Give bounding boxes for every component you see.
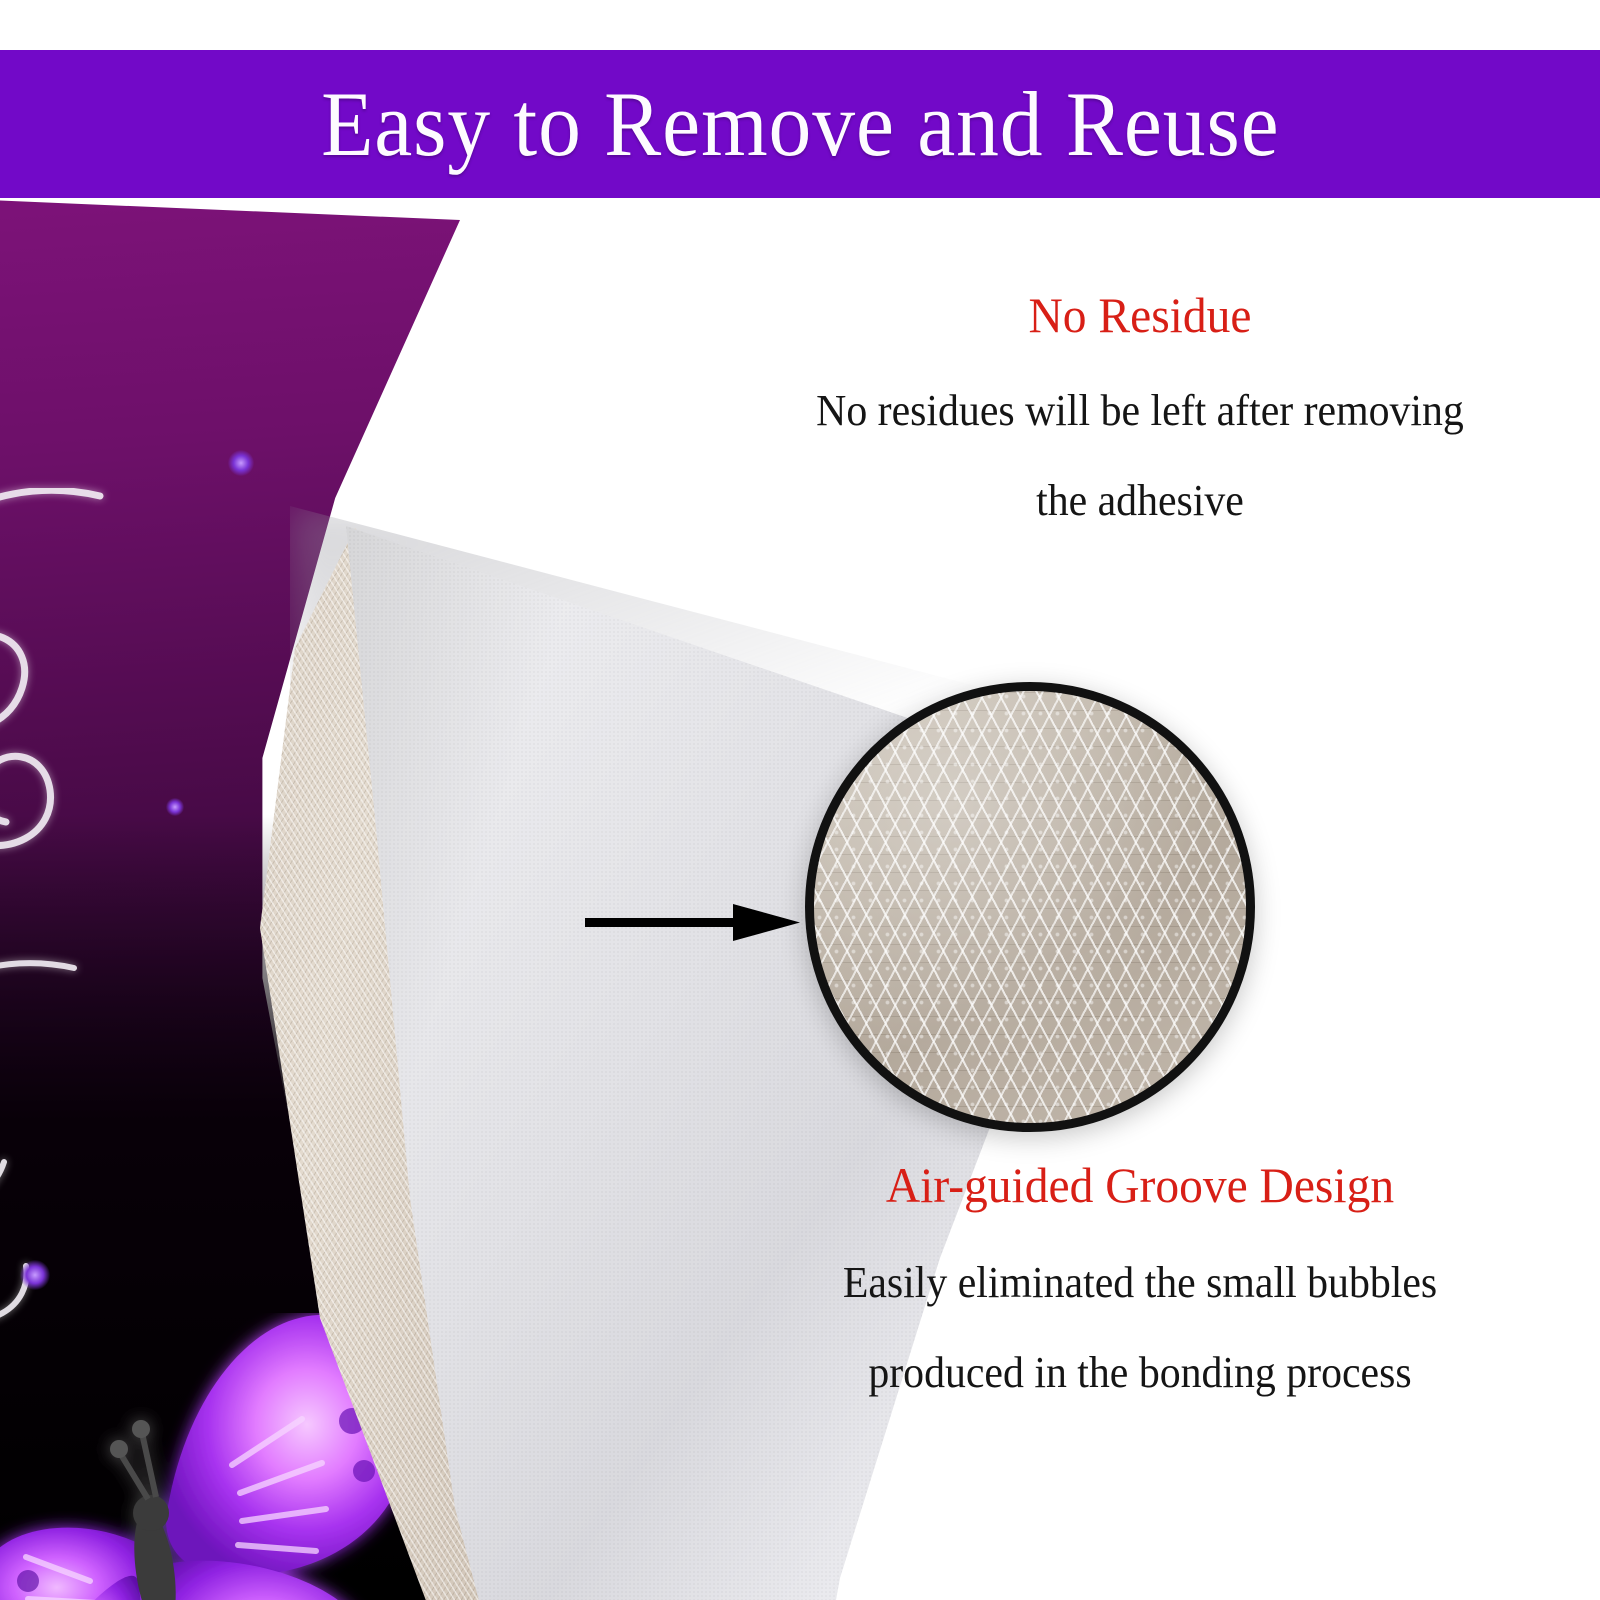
- decorative-swirl-icon: [0, 958, 160, 1358]
- feature-body-line: No residues will be left after removing: [722, 387, 1558, 435]
- sparkle-dot: [228, 450, 254, 476]
- banner-title: Easy to Remove and Reuse: [321, 78, 1280, 170]
- sparkle-dot: [20, 1260, 50, 1290]
- feature-no-residue: No Residue No residues will be left afte…: [700, 288, 1580, 526]
- sparkle-dot: [166, 798, 184, 816]
- air-groove-texture-closeup: [805, 682, 1255, 1132]
- feature-heading: Air-guided Groove Design: [722, 1158, 1558, 1213]
- circle-gloss-highlight: [814, 691, 1246, 1123]
- feature-body-line: the adhesive: [722, 477, 1558, 525]
- header-banner: Easy to Remove and Reuse: [0, 50, 1600, 198]
- pointer-arrow-icon: [585, 898, 800, 948]
- feature-body-line: produced in the bonding process: [722, 1349, 1558, 1397]
- feature-body-line: Easily eliminated the small bubbles: [722, 1259, 1558, 1307]
- feature-heading: No Residue: [722, 288, 1558, 343]
- feature-air-guided-groove: Air-guided Groove Design Easily eliminat…: [700, 1158, 1580, 1398]
- infographic-root: Easy to Remove and Reuse: [0, 0, 1600, 1600]
- decorative-swirl-icon: [0, 488, 190, 908]
